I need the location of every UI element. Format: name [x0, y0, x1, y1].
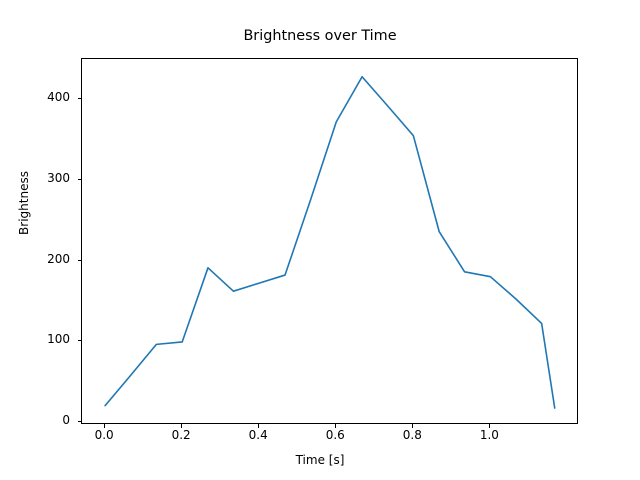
y-tick-mark — [78, 179, 82, 180]
chart-title: Brightness over Time — [0, 28, 640, 44]
x-tick-mark — [489, 424, 490, 428]
brightness-line — [105, 77, 555, 408]
y-tick-mark — [78, 421, 82, 422]
x-tick-mark — [412, 424, 413, 428]
x-axis-label: Time [s] — [0, 453, 640, 467]
x-tick-label: 0.6 — [305, 428, 365, 442]
x-tick-mark — [181, 424, 182, 428]
y-tick-label: 400 — [18, 90, 70, 104]
y-tick-label: 200 — [18, 252, 70, 266]
x-tick-label: 0.0 — [74, 428, 134, 442]
x-tick-label: 0.8 — [382, 428, 442, 442]
y-tick-label: 300 — [18, 171, 70, 185]
y-tick-mark — [78, 340, 82, 341]
y-tick-label: 0 — [18, 413, 70, 427]
x-tick-mark — [104, 424, 105, 428]
y-tick-mark — [78, 98, 82, 99]
x-tick-label: 0.4 — [228, 428, 288, 442]
plot-area — [81, 58, 578, 424]
x-tick-mark — [335, 424, 336, 428]
line-series-svg — [82, 59, 579, 425]
x-tick-mark — [258, 424, 259, 428]
y-tick-mark — [78, 260, 82, 261]
x-tick-label: 0.2 — [151, 428, 211, 442]
y-tick-label: 100 — [18, 332, 70, 346]
chart-figure: Brightness over Time Time [s] Brightness… — [0, 0, 640, 480]
y-axis-label: Brightness — [17, 143, 31, 263]
x-tick-label: 1.0 — [459, 428, 519, 442]
